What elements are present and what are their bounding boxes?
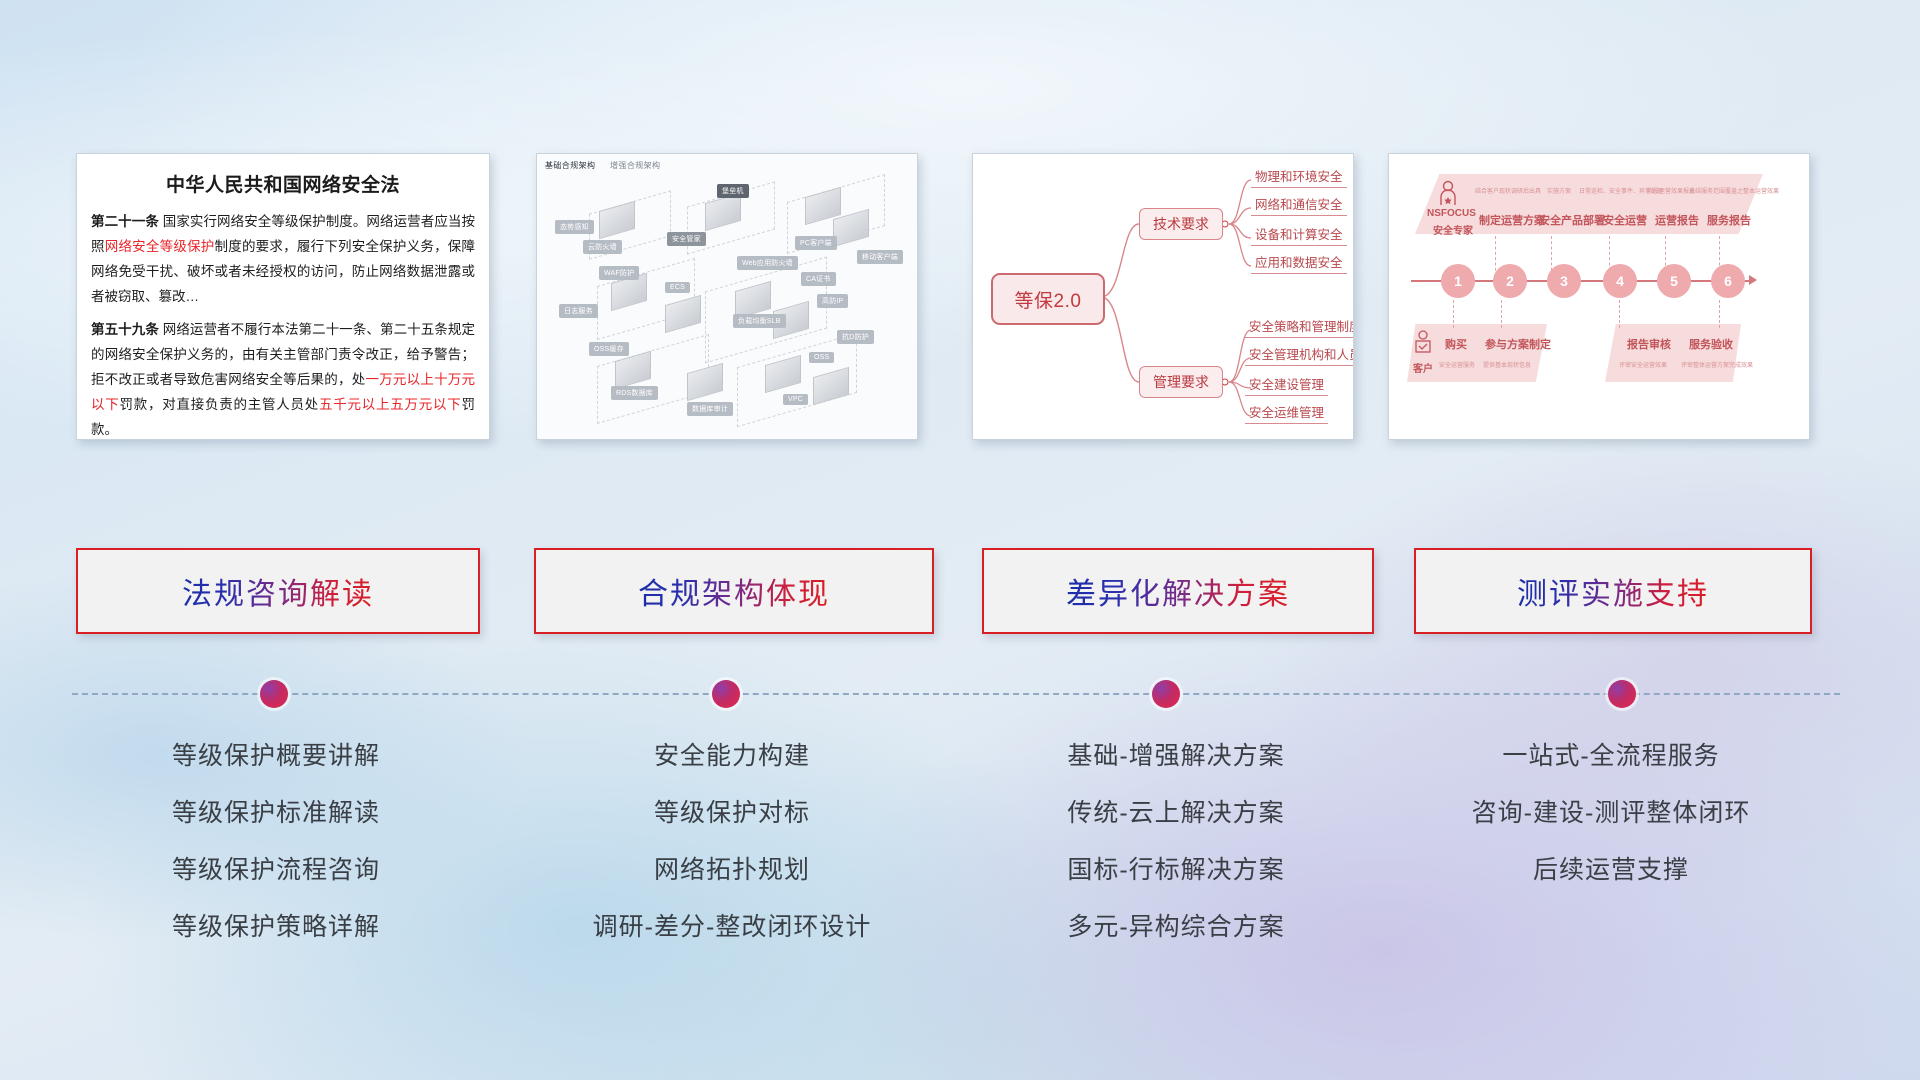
roadmap-bottom-sub: 安全运营服务 <box>1439 360 1475 369</box>
list-item: 安全能力构建 <box>534 740 930 772</box>
mindmap-leaf: 安全策略和管理制度 <box>1245 316 1354 338</box>
architecture-chip: 云防火墙 <box>583 240 622 254</box>
architecture-chip: 态势感知 <box>555 220 594 234</box>
roadmap-actor-top-line2: 安全专家 <box>1433 222 1473 237</box>
timeline-dot-3 <box>1152 680 1180 708</box>
architecture-chip: 抗D防护 <box>837 330 874 344</box>
card-dengbao-mindmap: 等保2.0 技术要求 管理要求 物理和环境安全 网络和通信安全 设备和计算安全 … <box>972 153 1354 440</box>
architecture-chip: WAF防护 <box>599 266 639 280</box>
roadmap-tick <box>1453 300 1455 328</box>
mindmap-leaf: 安全运维管理 <box>1245 402 1328 424</box>
roadmap-bottom-label: 服务验收 <box>1689 336 1733 352</box>
architecture-chip: Web应用防火墙 <box>737 256 798 270</box>
mindmap-branch-technical: 技术要求 <box>1139 208 1223 240</box>
card-cybersecurity-law: 中华人民共和国网络安全法 第二十一条 国家实行网络安全等级保护制度。网络运营者应… <box>76 153 490 440</box>
list-item: 网络拓扑规划 <box>534 854 930 886</box>
section-items-4: 一站式-全流程服务 咨询-建设-测评整体闭环 后续运营支撑 <box>1414 740 1808 911</box>
expert-person-icon <box>1437 180 1459 211</box>
list-item: 基础-增强解决方案 <box>982 740 1370 772</box>
architecture-chip: RDS数据库 <box>611 386 658 400</box>
law-body: 第二十一条 国家实行网络安全等级保护制度。网络运营者应当按照网络安全等级保护制度… <box>77 209 489 440</box>
architecture-tabs: 基础合规架构 增强合规架构 <box>545 160 672 171</box>
roadmap-tick <box>1501 300 1503 328</box>
roadmap-step-sub: 实施方案 <box>1547 186 1571 195</box>
section-title-2: 合规架构体现 <box>638 569 830 613</box>
section-items-1: 等级保护概要讲解 等级保护标准解读 等级保护流程咨询 等级保护策略详解 <box>76 740 476 968</box>
roadmap-bottom-label: 报告审核 <box>1627 336 1671 352</box>
roadmap-tick <box>1719 300 1721 328</box>
roadmap-bottom-sub: 提供基本现状信息 <box>1483 360 1531 369</box>
section-items-3: 基础-增强解决方案 传统-云上解决方案 国标-行标解决方案 多元-异构综合方案 <box>982 740 1370 968</box>
roadmap-step-label: 安全产品部署 <box>1539 212 1605 228</box>
mindmap-leaf: 应用和数据安全 <box>1251 252 1347 274</box>
law-article59-highlight-2: 五千元以上五万元以下 <box>319 397 462 412</box>
mindmap-leaf: 安全建设管理 <box>1245 374 1328 396</box>
roadmap-step-dot: 2 <box>1493 264 1527 298</box>
mindmap-leaf: 物理和环境安全 <box>1251 166 1347 188</box>
roadmap-actor-top-line1: NSFOCUS <box>1427 208 1476 219</box>
law-article21-highlight: 网络安全等级保护 <box>105 239 215 254</box>
mindmap-leaf: 网络和通信安全 <box>1251 194 1347 216</box>
section-title-3: 差异化解决方案 <box>1066 569 1290 613</box>
roadmap-bottom-label: 参与方案制定 <box>1485 336 1551 352</box>
architecture-chip: 堡垒机 <box>717 184 749 198</box>
roadmap-step-dot: 6 <box>1711 264 1745 298</box>
card-compliance-architecture: 基础合规架构 增强合规架构 堡垒机 安全管家 云防火墙 <box>536 153 918 440</box>
list-item: 等级保护流程咨询 <box>76 854 476 886</box>
architecture-chip: ECS <box>665 282 690 293</box>
architecture-diagram: 基础合规架构 增强合规架构 堡垒机 安全管家 云防火墙 <box>537 154 917 439</box>
law-article59-label: 第五十九条 <box>91 322 159 337</box>
list-item: 多元-异构综合方案 <box>982 911 1370 943</box>
law-article59-mid: 罚款，对直接负责的主管人员处 <box>120 397 320 412</box>
mindmap-branch-management: 管理要求 <box>1139 366 1223 398</box>
architecture-tab-enhanced: 增强合规架构 <box>610 161 660 170</box>
roadmap-step-label: 制定运营方案 <box>1479 212 1545 228</box>
roadmap-diagram: NSFOCUS 安全专家 结合客户现状调研后出具 实施方案 日常巡检、安全事件、… <box>1389 154 1809 439</box>
architecture-chip: 负载均衡SLB <box>733 314 786 328</box>
roadmap-tick <box>1619 300 1621 328</box>
roadmap-bottom-sub: 评审安全运营效果 <box>1619 360 1667 369</box>
list-item: 咨询-建设-测评整体闭环 <box>1414 797 1808 829</box>
list-item: 等级保护标准解读 <box>76 797 476 829</box>
list-item: 调研-差分-整改闭环设计 <box>534 911 930 943</box>
section-items-2: 安全能力构建 等级保护对标 网络拓扑规划 调研-差分-整改闭环设计 <box>534 740 930 968</box>
roadmap-arrow-icon <box>1749 275 1757 285</box>
list-item: 传统-云上解决方案 <box>982 797 1370 829</box>
list-item: 等级保护策略详解 <box>76 911 476 943</box>
architecture-chip: VPC <box>783 394 808 405</box>
timeline-dot-1 <box>260 680 288 708</box>
roadmap-step-dot: 5 <box>1657 264 1691 298</box>
mindmap: 等保2.0 技术要求 管理要求 物理和环境安全 网络和通信安全 设备和计算安全 … <box>973 154 1353 439</box>
roadmap-step-sub: 阶段运营效果报告 <box>1647 186 1695 195</box>
roadmap-step-label: 安全运营 <box>1603 212 1647 228</box>
architecture-tab-basic: 基础合规架构 <box>545 161 595 170</box>
card-operation-roadmap: NSFOCUS 安全专家 结合客户现状调研后出具 实施方案 日常巡检、安全事件、… <box>1388 153 1810 440</box>
roadmap-bottom-label: 购买 <box>1445 336 1467 352</box>
customer-person-icon <box>1413 330 1433 361</box>
architecture-chip: 移动客户端 <box>857 250 903 264</box>
roadmap-step-label: 运营报告 <box>1655 212 1699 228</box>
section-title-4: 测评实施支持 <box>1517 569 1709 613</box>
roadmap-band-bottom-right <box>1605 324 1741 382</box>
timeline-dot-2 <box>712 680 740 708</box>
architecture-chip: OSS <box>809 352 834 363</box>
roadmap-step-dot: 4 <box>1603 264 1637 298</box>
section-title-1: 法规咨询解读 <box>182 569 374 613</box>
list-item: 等级保护对标 <box>534 797 930 829</box>
section-header-1[interactable]: 法规咨询解读 <box>76 548 480 634</box>
roadmap-step-sub: 结合客户现状调研后出具 <box>1475 186 1541 195</box>
section-header-2[interactable]: 合规架构体现 <box>534 548 934 634</box>
architecture-chip: 高防IP <box>817 294 848 308</box>
section-header-3[interactable]: 差异化解决方案 <box>982 548 1374 634</box>
law-article21-label: 第二十一条 <box>91 214 159 229</box>
mindmap-leaf: 设备和计算安全 <box>1251 224 1347 246</box>
architecture-chip: 安全管家 <box>667 232 706 246</box>
mindmap-leaf: 安全管理机构和人员 <box>1245 344 1354 366</box>
list-item: 后续运营支撑 <box>1414 854 1808 886</box>
law-title: 中华人民共和国网络安全法 <box>77 170 489 197</box>
roadmap-step-label: 服务报告 <box>1707 212 1751 228</box>
roadmap-step-dot: 1 <box>1441 264 1475 298</box>
roadmap-actor-bottom: 客户 <box>1413 360 1433 375</box>
list-item: 等级保护概要讲解 <box>76 740 476 772</box>
section-header-4[interactable]: 测评实施支持 <box>1414 548 1812 634</box>
timeline-dot-4 <box>1608 680 1636 708</box>
list-item: 国标-行标解决方案 <box>982 854 1370 886</box>
architecture-chip: CA证书 <box>801 272 836 286</box>
architecture-chip: 日志服务 <box>559 304 598 318</box>
mindmap-root: 等保2.0 <box>991 273 1105 325</box>
architecture-chip: PC客户端 <box>795 236 837 250</box>
roadmap-bottom-sub: 评审整体运营方案完成效果 <box>1681 360 1753 369</box>
roadmap-step-dot: 3 <box>1547 264 1581 298</box>
architecture-chip: 数据库审计 <box>687 402 733 416</box>
list-item: 一站式-全流程服务 <box>1414 740 1808 772</box>
architecture-chip: OSS缓存 <box>589 342 629 356</box>
roadmap-step-sub: 总结服务范围覆盖之整本运营效果 <box>1689 186 1779 195</box>
timeline-dashed-line <box>72 693 1840 695</box>
